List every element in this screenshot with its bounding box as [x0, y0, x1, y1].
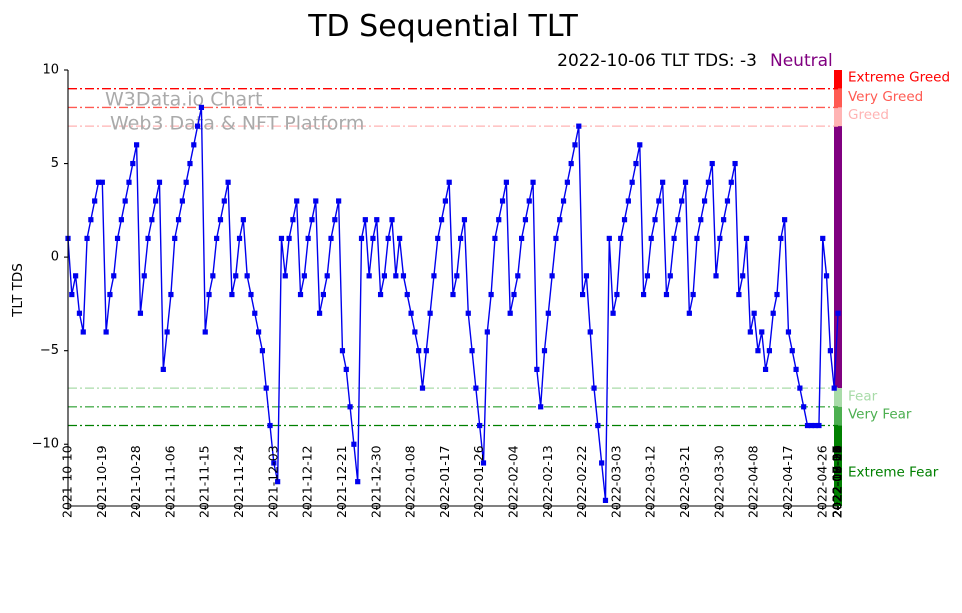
data-point	[515, 273, 520, 278]
data-point	[210, 273, 215, 278]
data-point	[81, 329, 86, 334]
x-tick-label: 2021-11-24	[231, 445, 246, 518]
data-point	[214, 236, 219, 241]
data-point	[283, 273, 288, 278]
data-point	[321, 292, 326, 297]
data-point	[412, 329, 417, 334]
data-point	[279, 236, 284, 241]
data-point	[252, 311, 257, 316]
data-point	[184, 180, 189, 185]
data-point	[633, 161, 638, 166]
data-point	[92, 198, 97, 203]
data-point	[351, 442, 356, 447]
data-point	[298, 292, 303, 297]
data-point	[420, 386, 425, 391]
data-point	[180, 198, 185, 203]
data-point	[489, 292, 494, 297]
colorbar-segment-extreme-greed	[834, 70, 842, 89]
data-point	[607, 236, 612, 241]
data-point	[286, 236, 291, 241]
data-point	[138, 311, 143, 316]
data-point	[740, 273, 745, 278]
data-point	[702, 198, 707, 203]
data-point	[519, 236, 524, 241]
data-point	[454, 273, 459, 278]
data-point	[119, 217, 124, 222]
data-point	[469, 348, 474, 353]
x-tick-label: 2022-03-30	[711, 445, 726, 518]
data-point	[729, 180, 734, 185]
data-point	[832, 386, 837, 391]
data-point	[149, 217, 154, 222]
data-point	[222, 198, 227, 203]
data-point	[683, 180, 688, 185]
data-point	[572, 142, 577, 147]
x-tick-label: 2022-04-17	[780, 445, 795, 518]
data-point	[721, 217, 726, 222]
data-point	[336, 198, 341, 203]
data-point	[126, 180, 131, 185]
x-tick-label: 2021-11-15	[197, 445, 212, 518]
data-point	[656, 198, 661, 203]
data-point	[306, 236, 311, 241]
data-point	[713, 273, 718, 278]
data-point	[591, 386, 596, 391]
y-tick-label: 5	[51, 156, 59, 171]
data-point	[668, 273, 673, 278]
data-point	[165, 329, 170, 334]
page-title: TD Sequential TLT	[307, 9, 578, 44]
x-tick-label: 2022-01-08	[403, 445, 418, 518]
data-point	[649, 236, 654, 241]
data-point	[168, 292, 173, 297]
data-point	[123, 198, 128, 203]
data-point	[691, 292, 696, 297]
data-point	[748, 329, 753, 334]
x-tick-label: 2021-10-28	[128, 445, 143, 518]
data-point	[706, 180, 711, 185]
data-point	[671, 236, 676, 241]
data-point	[466, 311, 471, 316]
data-point	[611, 311, 616, 316]
data-point	[710, 161, 715, 166]
data-point	[569, 161, 574, 166]
data-point	[763, 367, 768, 372]
data-point	[389, 217, 394, 222]
data-point	[801, 404, 806, 409]
data-point	[790, 348, 795, 353]
data-point	[736, 292, 741, 297]
data-point	[378, 292, 383, 297]
data-point	[195, 124, 200, 129]
zone-label-extreme-fear: Extreme Fear	[848, 464, 939, 480]
zone-label-greed: Greed	[848, 107, 889, 123]
data-point	[660, 180, 665, 185]
x-tick-label: 2022-03-12	[643, 445, 658, 518]
data-point	[84, 236, 89, 241]
data-point	[382, 273, 387, 278]
data-point	[69, 292, 74, 297]
data-point	[793, 367, 798, 372]
x-tick-label: 2022-02-22	[574, 445, 589, 518]
y-tick-label: 0	[51, 250, 59, 265]
data-point	[332, 217, 337, 222]
data-point	[107, 292, 112, 297]
x-tick-label: 2021-11-06	[162, 445, 177, 518]
data-point	[203, 329, 208, 334]
data-point	[443, 198, 448, 203]
data-point	[363, 217, 368, 222]
data-point	[824, 273, 829, 278]
data-point	[462, 217, 467, 222]
data-point	[835, 311, 840, 316]
data-point	[431, 273, 436, 278]
x-tick-label: 2022-01-26	[471, 445, 486, 518]
data-point	[599, 460, 604, 465]
x-tick-label: 2022-04-26	[814, 445, 829, 518]
data-point	[73, 273, 78, 278]
data-point	[187, 161, 192, 166]
data-point	[248, 292, 253, 297]
status-badge: Neutral	[770, 51, 833, 71]
data-point	[508, 311, 513, 316]
data-point	[191, 142, 196, 147]
data-point	[679, 198, 684, 203]
data-point	[405, 292, 410, 297]
data-point	[199, 105, 204, 110]
zone-colorbar	[834, 70, 842, 506]
data-point	[530, 180, 535, 185]
x-tick-label: 2022-02-04	[505, 445, 520, 518]
zone-label-fear: Fear	[848, 389, 878, 405]
data-point	[294, 198, 299, 203]
zone-label-very-greed: Very Greed	[848, 89, 923, 105]
data-point	[435, 236, 440, 241]
data-point	[145, 236, 150, 241]
data-point	[820, 236, 825, 241]
data-point	[626, 198, 631, 203]
data-point	[732, 161, 737, 166]
subtitle-reading: 2022-10-06 TLT TDS: -3	[557, 51, 757, 71]
data-point	[226, 180, 231, 185]
data-point	[340, 348, 345, 353]
data-point	[302, 273, 307, 278]
colorbar-segment-fear	[834, 388, 842, 407]
x-tick-label: 2021-10-19	[94, 445, 109, 518]
data-point	[725, 198, 730, 203]
data-point	[534, 367, 539, 372]
data-point	[386, 236, 391, 241]
data-point	[652, 217, 657, 222]
data-point	[523, 217, 528, 222]
data-point	[153, 198, 158, 203]
data-point	[687, 311, 692, 316]
data-point	[752, 311, 757, 316]
data-point	[717, 236, 722, 241]
data-point	[588, 329, 593, 334]
data-point	[374, 217, 379, 222]
data-point	[828, 348, 833, 353]
data-point	[317, 311, 322, 316]
data-point	[755, 348, 760, 353]
data-point	[557, 217, 562, 222]
data-point	[393, 273, 398, 278]
y-tick-label: −10	[32, 437, 59, 452]
data-point	[473, 386, 478, 391]
data-point	[260, 348, 265, 353]
x-tick-label: 2022-02-13	[540, 445, 555, 518]
data-point	[771, 311, 776, 316]
data-point	[675, 217, 680, 222]
data-point	[553, 236, 558, 241]
data-point	[500, 198, 505, 203]
data-point	[256, 329, 261, 334]
data-point	[637, 142, 642, 147]
data-point	[416, 348, 421, 353]
data-point	[458, 236, 463, 241]
data-point	[767, 348, 772, 353]
data-point	[328, 236, 333, 241]
data-point	[309, 217, 314, 222]
data-point	[408, 311, 413, 316]
data-point	[694, 236, 699, 241]
x-tick-label: 2021-12-03	[265, 445, 280, 518]
data-point	[325, 273, 330, 278]
x-tick-label: 2022-04-08	[746, 445, 761, 518]
data-point	[759, 329, 764, 334]
zone-label-extreme-greed: Extreme Greed	[848, 69, 950, 85]
x-tick-label: 2021-10-10	[60, 445, 75, 518]
data-point	[774, 292, 779, 297]
data-point	[111, 273, 116, 278]
data-point	[816, 423, 821, 428]
data-point	[344, 367, 349, 372]
x-tick-label: 2022-03-21	[677, 445, 692, 518]
data-point	[504, 180, 509, 185]
data-point	[576, 124, 581, 129]
data-point	[347, 404, 352, 409]
data-point	[206, 292, 211, 297]
data-point	[88, 217, 93, 222]
data-point	[233, 273, 238, 278]
data-point	[218, 217, 223, 222]
x-tick-label: 2021-12-30	[368, 445, 383, 518]
data-point	[645, 273, 650, 278]
x-tick-label: 2022-03-03	[608, 445, 623, 518]
colorbar-segment-very-greed	[834, 89, 842, 108]
data-point	[565, 180, 570, 185]
data-point	[355, 479, 360, 484]
x-tick-label: 2021-12-12	[300, 445, 315, 518]
data-point	[359, 236, 364, 241]
data-point	[428, 311, 433, 316]
data-point	[786, 329, 791, 334]
watermark-line-2: Web3 Data & NFT Platform	[110, 113, 364, 135]
data-point	[104, 329, 109, 334]
data-point	[561, 198, 566, 203]
data-point	[370, 236, 375, 241]
td-sequential-chart: TD Sequential TLT 2022-10-06 TLT TDS: -3…	[0, 0, 962, 613]
data-point	[485, 329, 490, 334]
data-point	[157, 180, 162, 185]
data-point	[618, 236, 623, 241]
data-point	[290, 217, 295, 222]
watermark-line-1: W3Data.io Chart	[105, 89, 262, 111]
data-point	[161, 367, 166, 372]
data-point	[241, 217, 246, 222]
data-point	[584, 273, 589, 278]
x-tick-label: 2021-12-21	[334, 445, 349, 518]
data-point	[538, 404, 543, 409]
data-point	[622, 217, 627, 222]
data-point	[744, 236, 749, 241]
data-point	[397, 236, 402, 241]
colorbar-segment-very-fear	[834, 407, 842, 426]
data-point	[424, 348, 429, 353]
data-point	[614, 292, 619, 297]
x-tick-label: 2022-10-05	[830, 445, 845, 518]
data-point	[439, 217, 444, 222]
data-point	[237, 236, 242, 241]
data-point	[450, 292, 455, 297]
data-point	[267, 423, 272, 428]
data-point	[778, 236, 783, 241]
data-point	[527, 198, 532, 203]
data-point	[595, 423, 600, 428]
data-point	[546, 311, 551, 316]
data-point	[100, 180, 105, 185]
data-point	[115, 236, 120, 241]
x-tick-label: 2022-01-17	[437, 445, 452, 518]
data-point	[77, 311, 82, 316]
colorbar-segment-greed	[834, 107, 842, 126]
data-point	[797, 386, 802, 391]
data-point	[176, 217, 181, 222]
data-point	[603, 498, 608, 503]
data-point	[313, 198, 318, 203]
data-point	[401, 273, 406, 278]
data-point	[477, 423, 482, 428]
data-point	[664, 292, 669, 297]
data-point	[511, 292, 516, 297]
data-point	[641, 292, 646, 297]
data-point	[496, 217, 501, 222]
data-point	[550, 273, 555, 278]
data-point	[630, 180, 635, 185]
data-point	[142, 273, 147, 278]
data-point	[542, 348, 547, 353]
data-point	[264, 386, 269, 391]
data-point	[134, 142, 139, 147]
data-point	[367, 273, 372, 278]
y-tick-label: 10	[42, 63, 59, 78]
data-point	[782, 217, 787, 222]
data-point	[172, 236, 177, 241]
data-point	[130, 161, 135, 166]
data-point	[447, 180, 452, 185]
y-axis-label: TLT TDS	[10, 263, 26, 318]
data-point	[698, 217, 703, 222]
y-tick-label: −5	[40, 343, 59, 358]
data-point	[229, 292, 234, 297]
data-point	[245, 273, 250, 278]
colorbar-segment-neutral	[834, 126, 842, 388]
zone-label-very-fear: Very Fear	[848, 406, 912, 422]
data-point	[580, 292, 585, 297]
data-point	[492, 236, 497, 241]
